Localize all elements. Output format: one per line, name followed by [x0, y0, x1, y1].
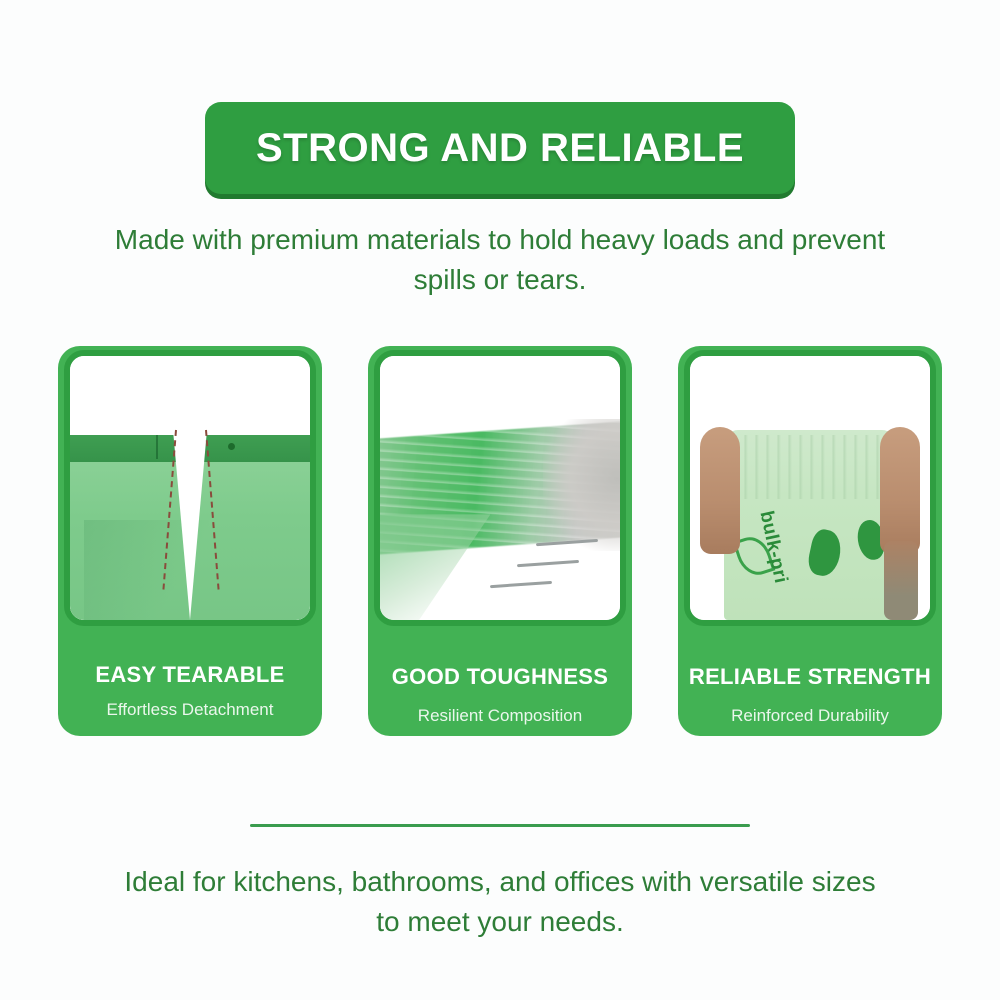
bag-lower-fold-shape	[380, 514, 490, 620]
bag-ribs-shape	[726, 435, 894, 498]
section-divider	[250, 824, 750, 827]
footer-text: Ideal for kitchens, bathrooms, and offic…	[110, 862, 890, 942]
product-photo-stretched-bag	[380, 356, 620, 620]
card-title: RELIABLE STRENGTH	[678, 664, 942, 690]
feature-card-reliable-strength[interactable]: bulk-pri RELIABLE STRENGTH Reinforced Du…	[678, 346, 942, 736]
wrist-right-shape	[884, 541, 918, 620]
card-caption: GOOD TOUGHNESS Resilient Composition	[368, 626, 632, 726]
bag-seam-shape	[156, 435, 158, 459]
product-photo-hands-stretching: bulk-pri	[690, 356, 930, 620]
card-title: GOOD TOUGHNESS	[368, 664, 632, 690]
card-subtitle: Resilient Composition	[368, 706, 632, 726]
stretch-streak-line	[517, 560, 579, 567]
card-photo-frame: bulk-pri	[684, 350, 936, 626]
card-photo-frame	[64, 350, 316, 626]
stretch-fan-highlight-shape	[543, 419, 620, 551]
page-title: STRONG AND RELIABLE	[256, 126, 744, 171]
card-photo-frame	[374, 350, 626, 626]
tear-gap-shape	[173, 430, 207, 620]
feature-card-good-toughness[interactable]: GOOD TOUGHNESS Resilient Composition	[368, 346, 632, 736]
feature-card-list: EASY TEARABLE Effortless Detachment GOOD…	[58, 346, 942, 736]
card-caption: EASY TEARABLE Effortless Detachment	[58, 626, 322, 720]
product-photo-tear-line	[70, 356, 310, 620]
hand-right-shape	[880, 427, 921, 554]
header-banner: STRONG AND RELIABLE	[205, 102, 795, 194]
header-banner-wrap: STRONG AND RELIABLE	[0, 102, 1000, 194]
card-subtitle: Reinforced Durability	[678, 706, 942, 726]
card-subtitle: Effortless Detachment	[58, 700, 322, 720]
feature-card-easy-tearable[interactable]: EASY TEARABLE Effortless Detachment	[58, 346, 322, 736]
card-caption: RELIABLE STRENGTH Reinforced Durability	[678, 626, 942, 726]
card-title: EASY TEARABLE	[58, 662, 322, 688]
stretch-streak-line	[490, 581, 552, 588]
subtitle-text: Made with premium materials to hold heav…	[110, 220, 890, 300]
hand-left-shape	[700, 427, 741, 554]
